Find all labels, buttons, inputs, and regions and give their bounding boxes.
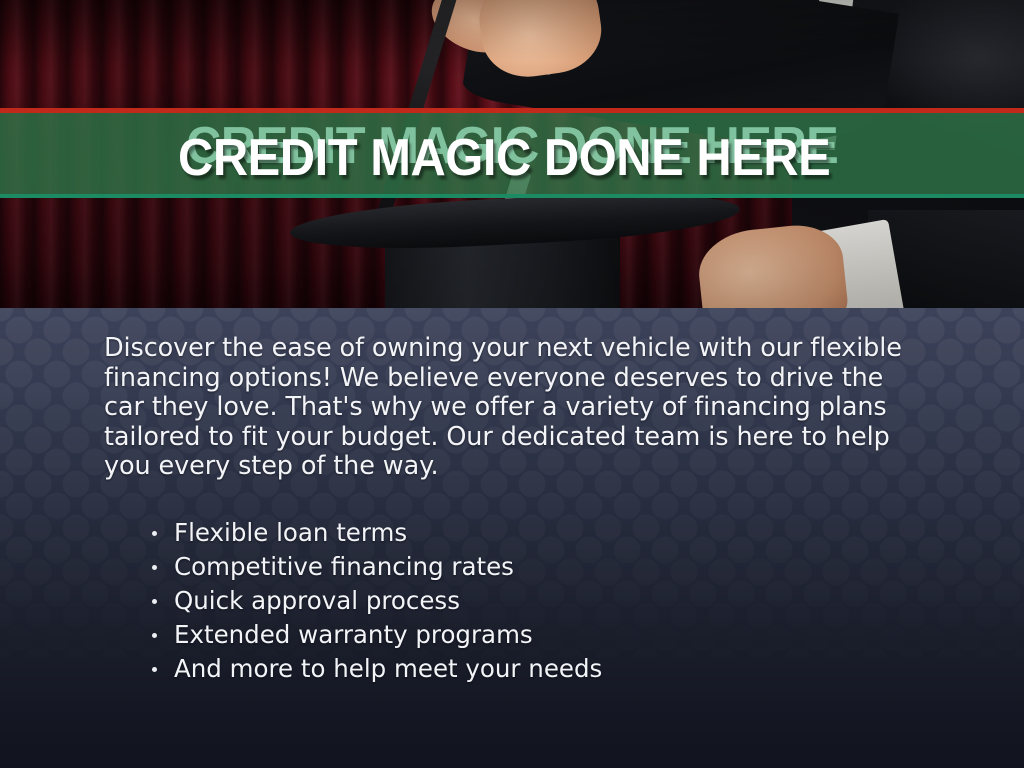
list-item: And more to help meet your needs — [148, 652, 1024, 686]
benefits-list: Flexible loan terms Competitive financin… — [0, 516, 1024, 687]
list-item: Extended warranty programs — [148, 618, 1024, 652]
headline-wrap: CREDIT MAGIC DONE HERE CREDIT MAGIC DONE… — [0, 113, 1024, 194]
page-title: CREDIT MAGIC DONE HERE — [178, 129, 830, 187]
content-inner: Discover the ease of owning your next ve… — [0, 308, 1024, 687]
promo-slide: CREDIT MAGIC DONE HERE CREDIT MAGIC DONE… — [0, 0, 1024, 768]
list-item: Flexible loan terms — [148, 516, 1024, 550]
content-area: Discover the ease of owning your next ve… — [0, 308, 1024, 768]
list-item: Competitive financing rates — [148, 550, 1024, 584]
headline-banner: CREDIT MAGIC DONE HERE CREDIT MAGIC DONE… — [0, 108, 1024, 198]
list-item: Quick approval process — [148, 584, 1024, 618]
intro-paragraph: Discover the ease of owning your next ve… — [104, 334, 924, 482]
